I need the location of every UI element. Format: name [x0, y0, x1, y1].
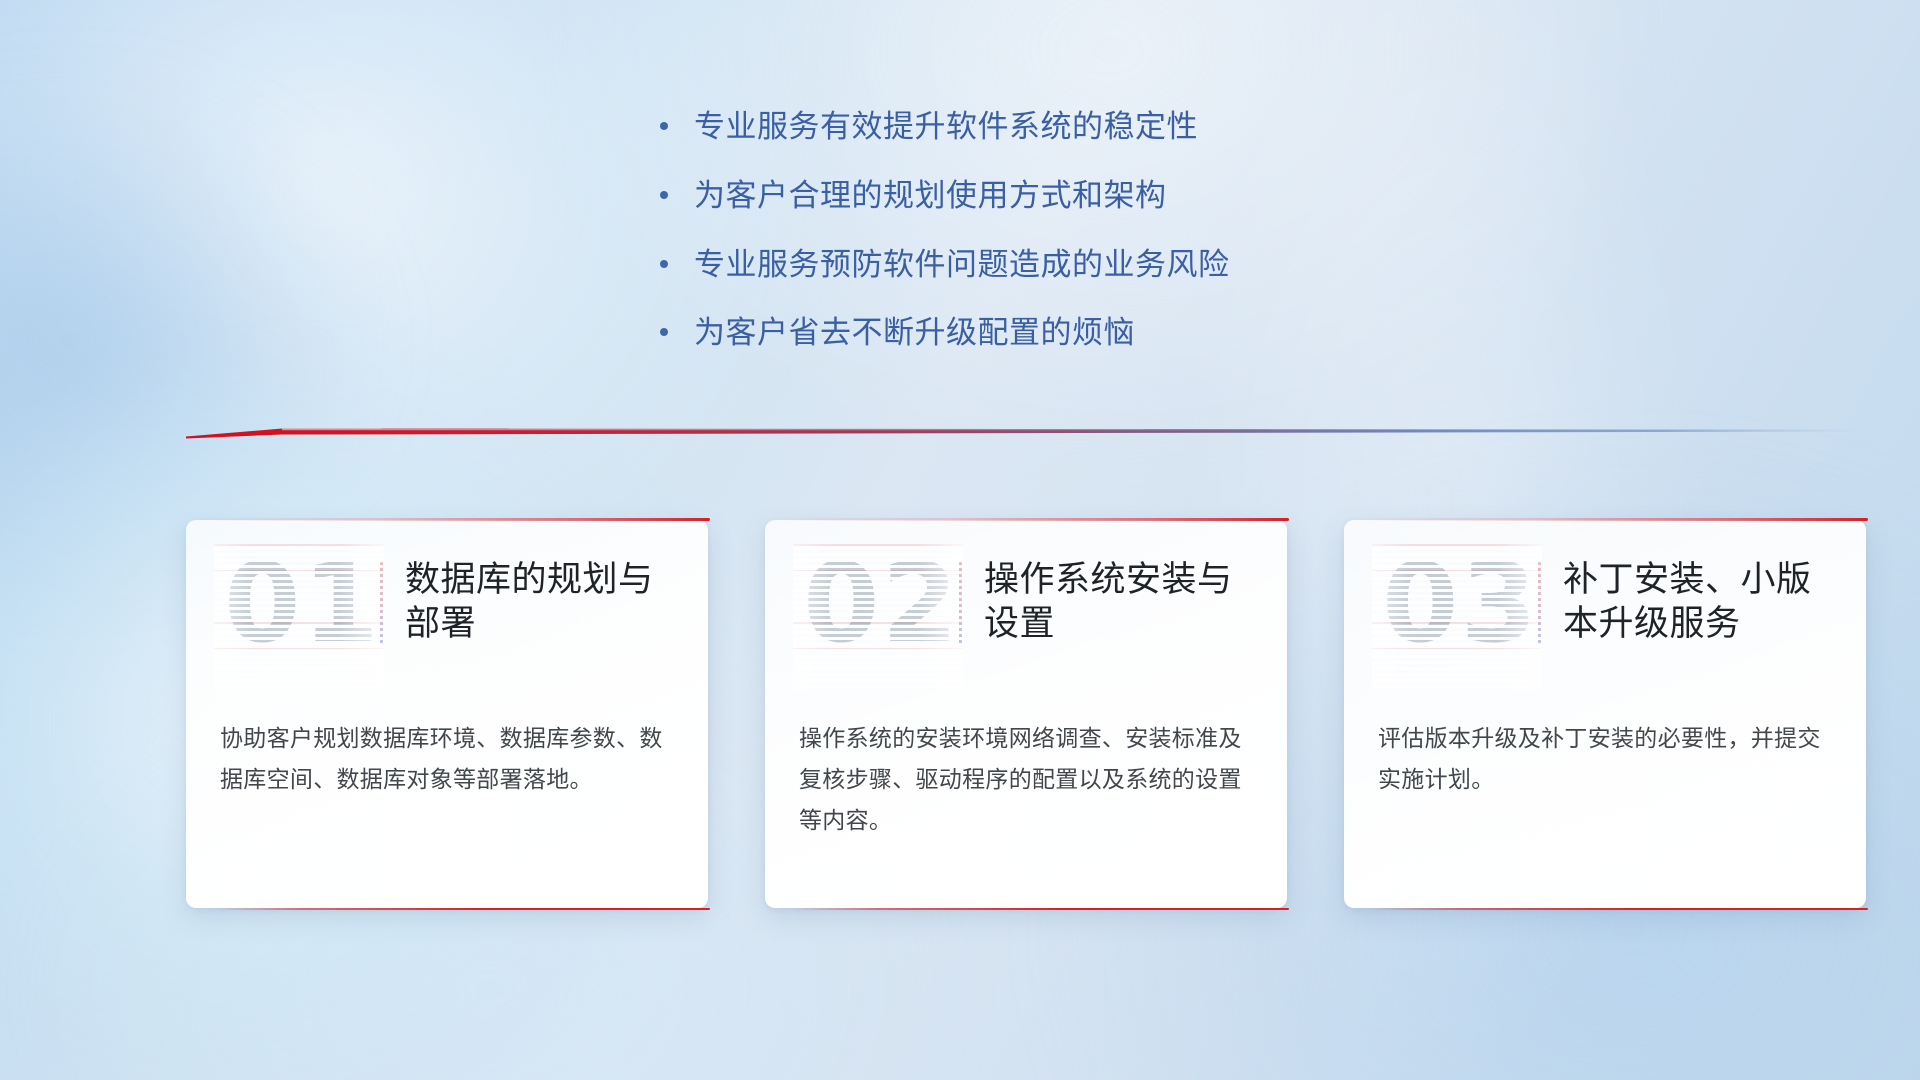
feature-card-row: 01 数据库的规划与部署 协助客户规划数据库环境、数据库参数、数据库空间、数据库… [186, 520, 1866, 920]
card-description: 协助客户规划数据库环境、数据库参数、数据库空间、数据库对象等部署落地。 [220, 718, 674, 800]
feature-card[interactable]: 02 操作系统安装与设置 操作系统的安装环境网络调查、安装标准及复核步骤、驱动程… [765, 520, 1287, 908]
card-description: 操作系统的安装环境网络调查、安装标准及复核步骤、驱动程序的配置以及系统的设置等内… [799, 718, 1253, 841]
bullet-dot-icon [660, 111, 694, 137]
card-number-watermark: 02 [803, 558, 953, 676]
card-number-watermark: 03 [1382, 558, 1532, 676]
bullet-item-label: 为客户省去不断升级配置的烦恼 [694, 314, 1135, 353]
bullet-dot-icon [660, 180, 694, 206]
card-number-watermark: 01 [224, 558, 374, 676]
bullet-item: 专业服务预防软件问题造成的业务风险 [660, 246, 1420, 285]
card-title: 操作系统安装与设置 [984, 556, 1253, 646]
divider-shape-icon [186, 420, 1866, 446]
card-number-label: 03 [1382, 548, 1539, 658]
bullet-item-label: 为客户合理的规划使用方式和架构 [694, 177, 1167, 216]
card-title: 补丁安装、小版本升级服务 [1563, 556, 1832, 646]
card-header: 03 补丁安装、小版本升级服务 [1378, 556, 1832, 688]
benefit-bullet-list: 专业服务有效提升软件系统的稳定性 为客户合理的规划使用方式和架构 专业服务预防软… [660, 108, 1420, 353]
bullet-item-label: 专业服务有效提升软件系统的稳定性 [694, 108, 1198, 147]
slide-canvas: 专业服务有效提升软件系统的稳定性 为客户合理的规划使用方式和架构 专业服务预防软… [0, 0, 1920, 1080]
feature-card[interactable]: 01 数据库的规划与部署 协助客户规划数据库环境、数据库参数、数据库空间、数据库… [186, 520, 708, 908]
card-title: 数据库的规划与部署 [405, 556, 674, 646]
section-divider [186, 420, 1866, 446]
bullet-dot-icon [660, 249, 694, 275]
bullet-dot-icon [660, 317, 694, 343]
card-header: 02 操作系统安装与设置 [799, 556, 1253, 688]
card-number-label: 02 [803, 548, 960, 658]
card-number-label: 01 [224, 548, 381, 658]
bullet-item-label: 专业服务预防软件问题造成的业务风险 [694, 246, 1230, 285]
bullet-item: 为客户合理的规划使用方式和架构 [660, 177, 1420, 216]
card-header: 01 数据库的规划与部署 [220, 556, 674, 688]
bullet-item: 专业服务有效提升软件系统的稳定性 [660, 108, 1420, 147]
feature-card[interactable]: 03 补丁安装、小版本升级服务 评估版本升级及补丁安装的必要性，并提交实施计划。 [1344, 520, 1866, 908]
bullet-item: 为客户省去不断升级配置的烦恼 [660, 314, 1420, 353]
card-description: 评估版本升级及补丁安装的必要性，并提交实施计划。 [1378, 718, 1832, 800]
